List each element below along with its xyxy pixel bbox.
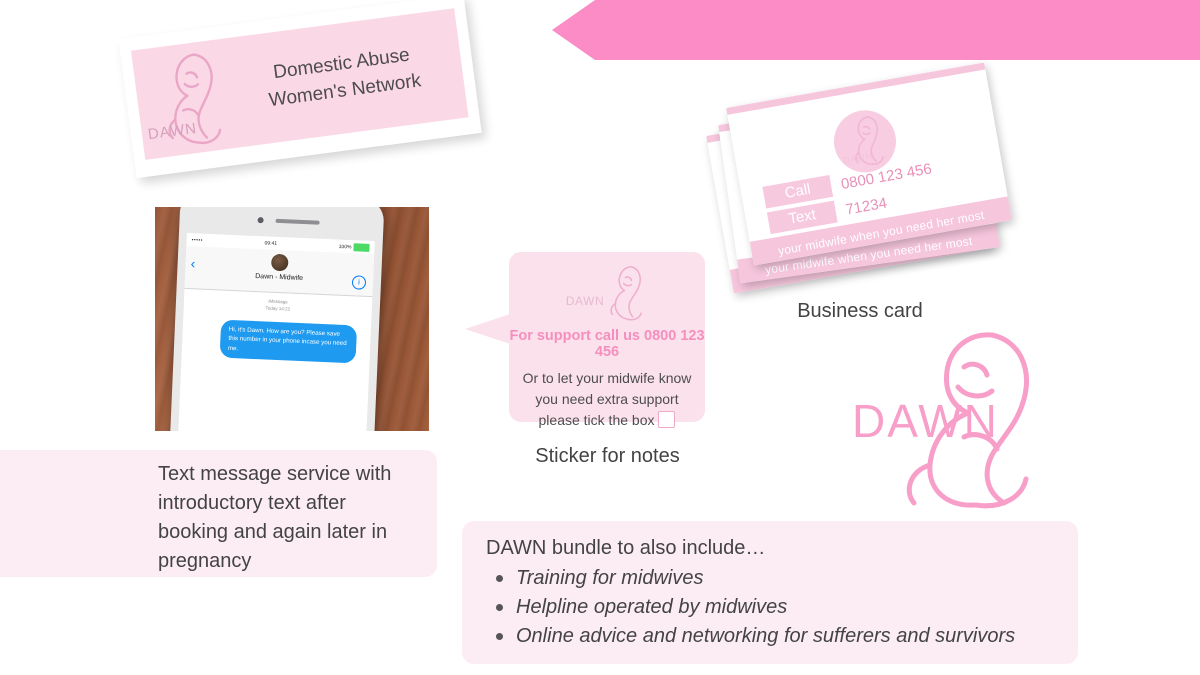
list-item: Training for midwives xyxy=(486,564,1054,593)
phone-screen: ••••• 09:41 100% ‹ Dawn - Midwife i iMes… xyxy=(177,233,375,431)
list-item: Helpline operated by midwives xyxy=(486,593,1054,622)
sticker-note-line-3: please tick the box xyxy=(539,412,655,428)
sticker-caption: Sticker for notes xyxy=(505,445,710,468)
sticker-bubble: DAWN For support call us 0800 123 456 Or… xyxy=(509,252,705,422)
bundle-title: DAWN bundle to also include… xyxy=(486,537,1054,560)
battery-icon xyxy=(353,243,369,252)
sticker-tail xyxy=(465,314,510,344)
slide-canvas: Our Innovation xyxy=(0,0,1200,675)
bundle-list: Training for midwives Helpline operated … xyxy=(486,564,1054,651)
list-item: Online advice and networking for suffere… xyxy=(486,622,1054,651)
business-card-stack: your midwife when you need her most xyxy=(712,78,1012,278)
messages-navbar: ‹ Dawn - Midwife i xyxy=(185,246,375,297)
poster-text: Domestic Abuse Women's Network xyxy=(230,36,465,119)
phone-device: ••••• 09:41 100% ‹ Dawn - Midwife i iMes… xyxy=(169,207,384,431)
phone-speaker-icon xyxy=(275,219,319,225)
business-card-caption: Business card xyxy=(760,300,960,323)
info-icon[interactable]: i xyxy=(352,275,367,290)
dawn-logo-icon: DAWN xyxy=(131,38,241,160)
text-number: 71234 xyxy=(844,194,888,218)
sticker-note-line-1: Or to let your midwife know xyxy=(517,368,697,389)
message-timestamp: iMessage Today 14:22 xyxy=(184,295,372,317)
svg-text:DAWN: DAWN xyxy=(566,294,604,308)
card-top-strip xyxy=(726,62,985,114)
text-service-caption: Text message service with introductory t… xyxy=(158,460,420,576)
svg-text:DAWN: DAWN xyxy=(852,395,999,447)
carrier-signal-icon: ••••• xyxy=(192,237,204,243)
sticker-note-line-2: you need extra support xyxy=(517,389,697,410)
poster-inner: DAWN Domestic Abuse Women's Network xyxy=(131,8,469,160)
conversation-title: Dawn - Midwife xyxy=(185,270,373,285)
header-banner xyxy=(552,0,1200,60)
status-time: 09:41 xyxy=(264,240,277,247)
battery-percent: 100% xyxy=(339,243,352,250)
text-service-caption-box: Text message service with introductory t… xyxy=(0,450,437,577)
bundle-box: DAWN bundle to also include… Training fo… xyxy=(462,521,1078,664)
phone-photo: ••••• 09:41 100% ‹ Dawn - Midwife i iMes… xyxy=(155,207,429,431)
phone-camera-icon xyxy=(257,217,263,223)
sticker-note: Or to let your midwife know you need ext… xyxy=(509,368,705,431)
dawn-logo-large-icon: DAWN xyxy=(852,325,1064,510)
avatar xyxy=(271,254,289,272)
battery-status: 100% xyxy=(339,242,370,251)
back-icon[interactable]: ‹ xyxy=(190,256,195,270)
sticker-support-line: For support call us 0800 123 456 xyxy=(509,328,705,360)
tick-checkbox[interactable] xyxy=(658,411,675,428)
sticker-note-line-3-wrap: please tick the box xyxy=(517,410,697,431)
message-bubble: Hi, it's Dawn. How are you? Please save … xyxy=(220,319,358,364)
dawn-logo-icon: DAWN xyxy=(509,262,705,324)
